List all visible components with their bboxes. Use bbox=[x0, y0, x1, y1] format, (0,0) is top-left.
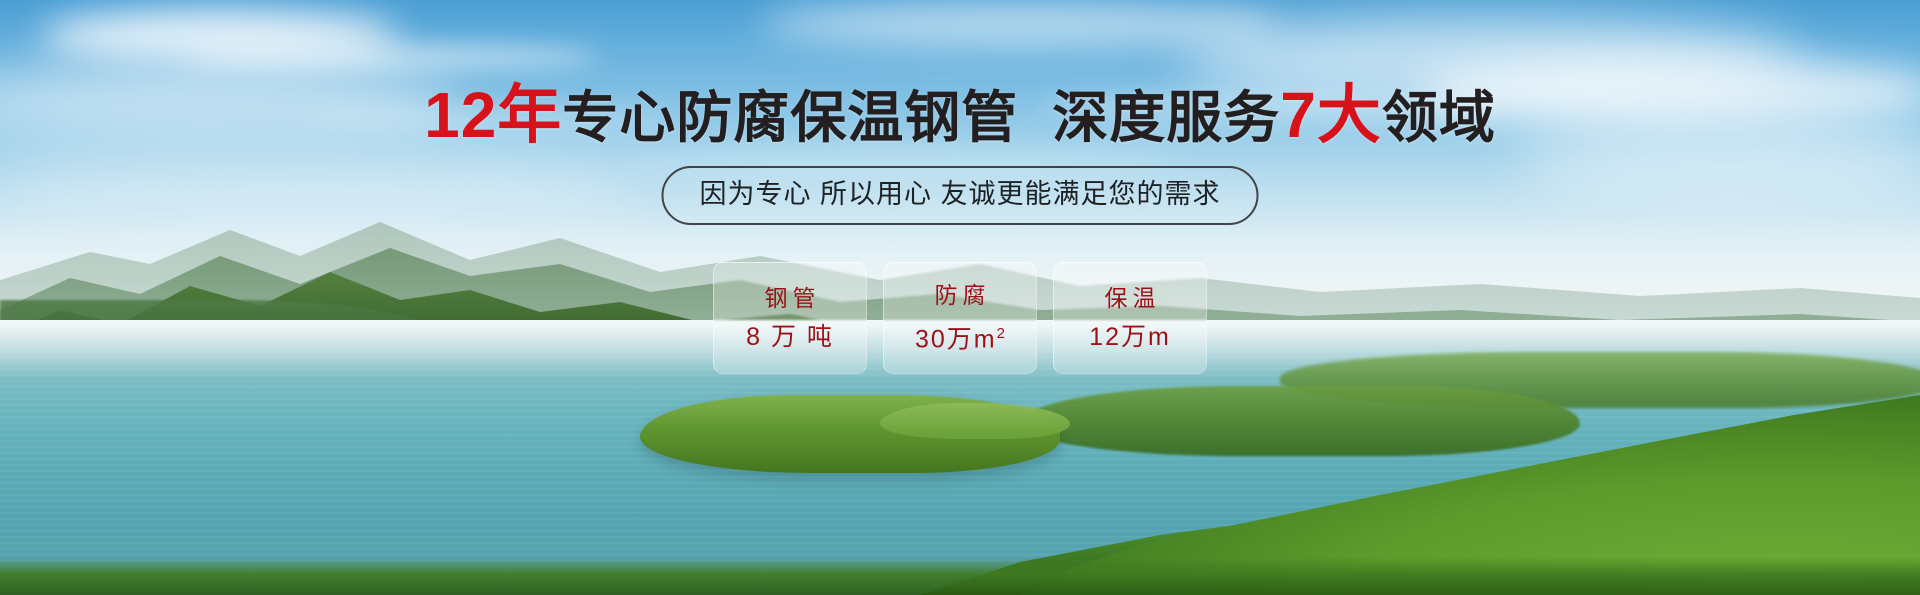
banner-content: 12年专心防腐保温钢管深度服务7大领域 因为专心 所以用心 友诚更能满足您的需求… bbox=[0, 0, 1920, 595]
stat-card-value-main: 12万m bbox=[1089, 323, 1171, 351]
stat-card-title: 钢管 bbox=[760, 285, 821, 311]
headline-fields-count: 7大 bbox=[1280, 79, 1382, 151]
stat-card-value-main: 8 万 吨 bbox=[746, 323, 834, 351]
headline-fields: 领域 bbox=[1382, 86, 1496, 149]
stat-card-value-superscript: 2 bbox=[997, 325, 1005, 342]
stat-card-value-main: 30万m bbox=[915, 326, 997, 354]
stat-card-value: 12万m bbox=[1089, 323, 1171, 351]
banner-subtitle-text: 因为专心 所以用心 友诚更能满足您的需求 bbox=[699, 179, 1220, 209]
banner-subtitle-pill: 因为专心 所以用心 友诚更能满足您的需求 bbox=[661, 166, 1258, 225]
headline-main: 专心防腐保温钢管 bbox=[562, 86, 1018, 149]
stat-card-title: 防腐 bbox=[930, 282, 991, 308]
headline-service: 深度服务 bbox=[1052, 86, 1280, 149]
stat-card-value: 30万m2 bbox=[915, 320, 1005, 353]
stat-card-title: 保温 bbox=[1100, 285, 1161, 311]
banner-headline: 12年专心防腐保温钢管深度服务7大领域 bbox=[0, 84, 1920, 149]
hero-banner: 12年专心防腐保温钢管深度服务7大领域 因为专心 所以用心 友诚更能满足您的需求… bbox=[0, 0, 1920, 595]
headline-years: 12年 bbox=[424, 79, 562, 151]
stat-card: 钢管 8 万 吨 bbox=[713, 262, 867, 374]
stat-card: 保温 12万m bbox=[1053, 262, 1207, 374]
stat-card-value: 8 万 吨 bbox=[746, 323, 834, 351]
stat-card: 防腐 30万m2 bbox=[883, 262, 1037, 374]
stat-card-list: 钢管 8 万 吨 防腐 30万m2 保温 12万m bbox=[713, 262, 1207, 374]
